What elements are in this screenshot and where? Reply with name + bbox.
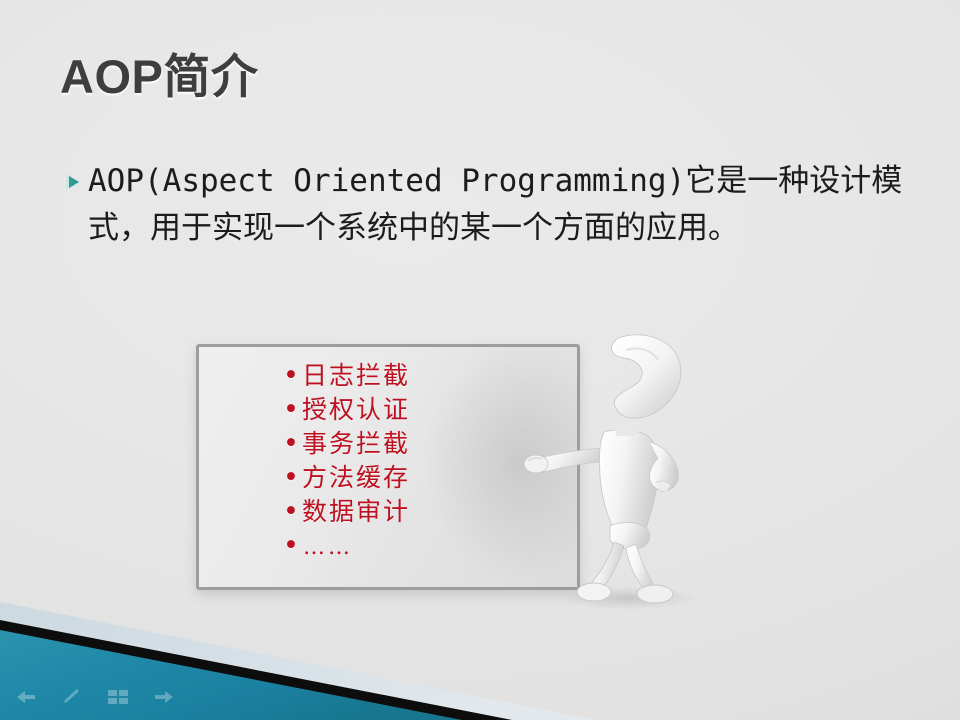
bullet-paragraph: AOP(Aspect Oriented Programming)它是一种设计模式…: [62, 158, 912, 252]
bullet-text: AOP(Aspect Oriented Programming)它是一种设计模式…: [88, 158, 912, 252]
previous-slide-icon[interactable]: [14, 688, 38, 706]
list-item-label: 日志拦截: [302, 359, 410, 393]
slideshow-navigation-bar[interactable]: [14, 688, 176, 706]
list-item-label: ……: [303, 531, 353, 565]
list-item-label: 授权认证: [302, 393, 410, 427]
list-bullet-dot: •: [283, 393, 301, 427]
presentation-slide: AOP简介 AOP(Aspect Oriented Programming)它是…: [0, 0, 960, 720]
list-bullet-dot: •: [283, 461, 301, 495]
list-item: • 数据审计: [283, 495, 483, 529]
list-bullet-dot: •: [283, 495, 301, 529]
whiteboard: • 日志拦截 • 授权认证 • 事务拦截 • 方法缓存 • 数据审计 • ……: [196, 344, 580, 590]
list-item: • 方法缓存: [283, 461, 483, 495]
whiteboard-item-list: • 日志拦截 • 授权认证 • 事务拦截 • 方法缓存 • 数据审计 • ……: [283, 359, 483, 565]
triangle-bullet-icon: [62, 158, 88, 197]
bottom-decoration-band: [0, 580, 960, 720]
list-item: • 授权认证: [283, 393, 483, 427]
list-item-label: 数据审计: [302, 495, 410, 529]
list-bullet-dot: •: [283, 529, 302, 563]
pen-tool-icon[interactable]: [60, 688, 84, 706]
page-title: AOP简介: [60, 48, 258, 107]
list-item: • ……: [283, 529, 483, 565]
list-item: • 日志拦截: [283, 359, 483, 393]
list-bullet-dot: •: [283, 359, 301, 393]
next-slide-icon[interactable]: [152, 688, 176, 706]
list-item-label: 事务拦截: [302, 427, 410, 461]
slide-menu-icon[interactable]: [106, 688, 130, 706]
list-bullet-dot: •: [283, 427, 301, 461]
list-item: • 事务拦截: [283, 427, 483, 461]
list-item-label: 方法缓存: [302, 461, 410, 495]
